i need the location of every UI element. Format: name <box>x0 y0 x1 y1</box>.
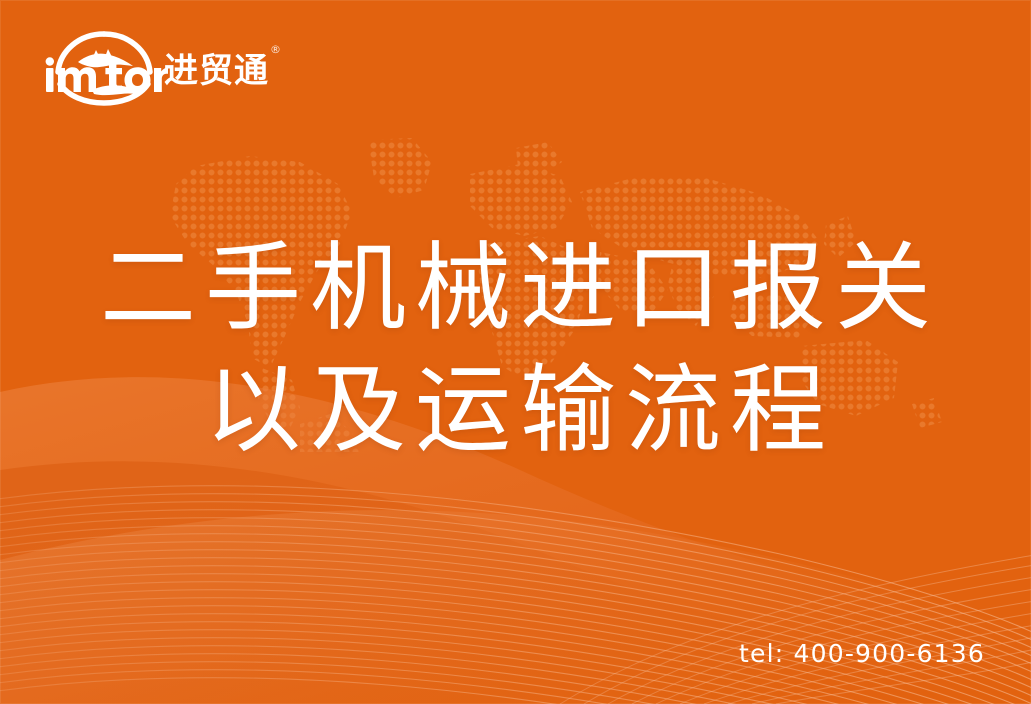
globe-emblem-icon <box>40 28 168 106</box>
registered-trademark-icon: ® <box>270 44 282 55</box>
page-title: 二手机械进口报关 以及运输流程 <box>0 228 1031 472</box>
page-title-line-2: 以及运输流程 <box>0 350 1031 472</box>
page-title-line-1: 二手机械进口报关 <box>0 228 1031 350</box>
brand-logo[interactable]: 进贸通 ® <box>40 28 250 106</box>
promo-banner: 进贸通 ® 二手机械进口报关 以及运输流程 tel: 400-900-6136 <box>0 0 1031 704</box>
brand-wordmark-cn: 进贸通 ® <box>164 46 269 88</box>
contact-telephone[interactable]: tel: 400-900-6136 <box>739 639 985 668</box>
brand-wordmark-cn-text: 进贸通 <box>164 51 269 91</box>
